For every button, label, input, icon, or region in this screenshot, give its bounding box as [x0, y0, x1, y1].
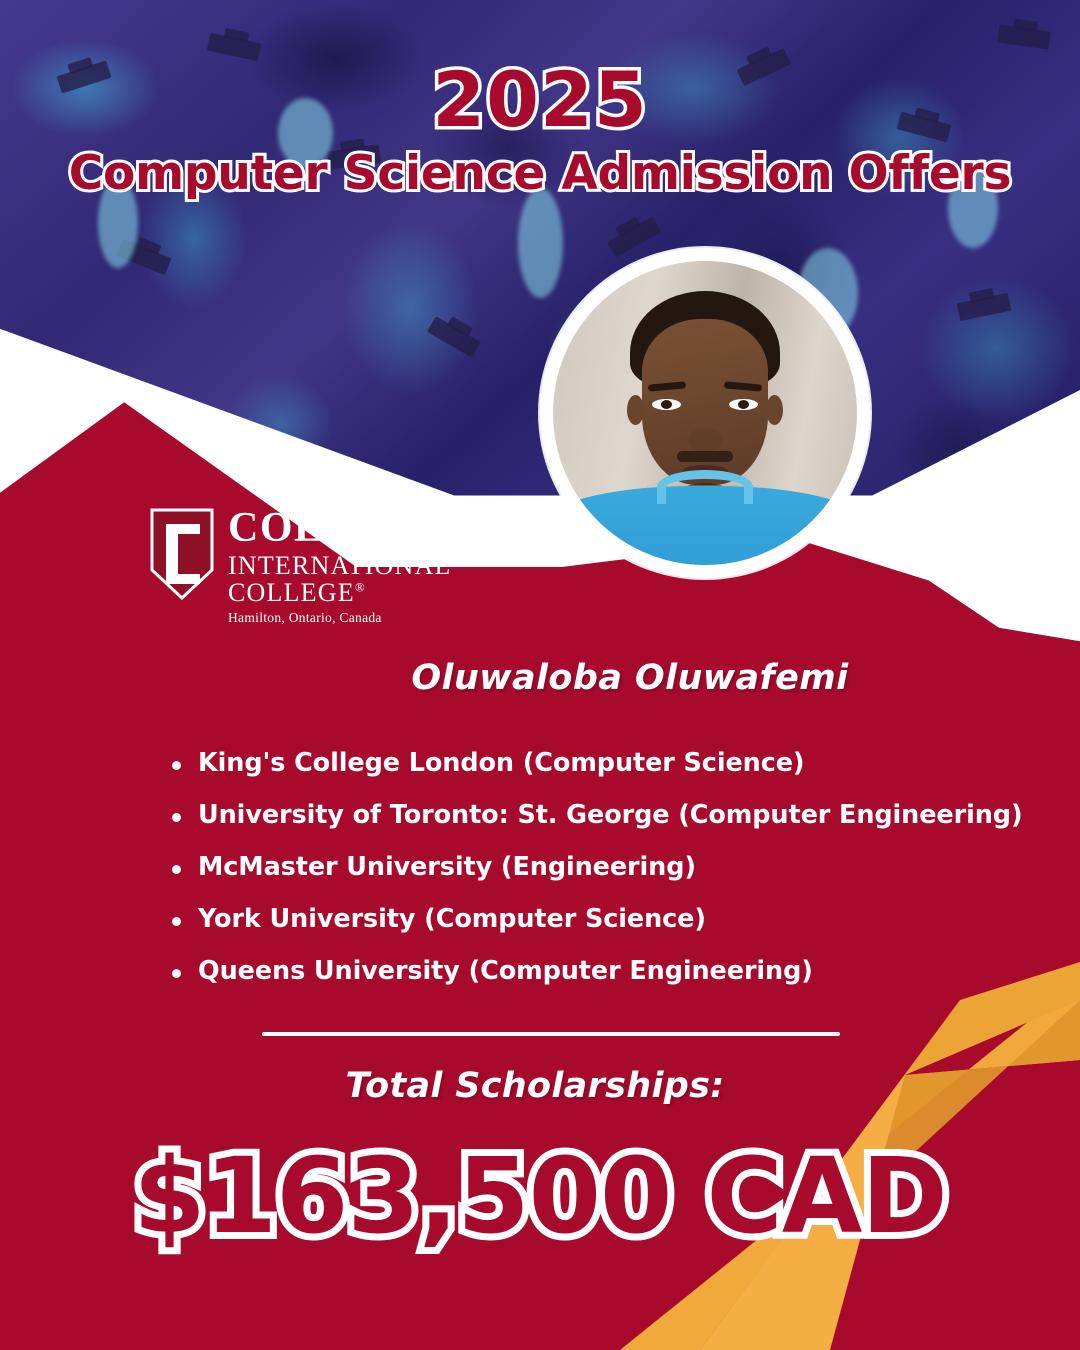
portrait-moustache	[677, 451, 733, 462]
portrait-nose	[688, 428, 722, 452]
logo-college-word: COLLEGE	[228, 578, 355, 607]
total-scholarships-amount: $163,500 CAD	[0, 1140, 1080, 1252]
logo-text-block: COLUMBIA INTERNATIONAL COLLEGE® Hamilton…	[228, 508, 476, 626]
admission-offers-list: King's College London (Computer Science)…	[168, 748, 1048, 1008]
student-name: Oluwaloba Oluwafemi	[0, 658, 1080, 698]
page-title: Computer Science Admission Offers	[0, 148, 1080, 200]
list-item: Queens University (Computer Engineering)	[168, 956, 1048, 986]
list-item: University of Toronto: St. George (Compu…	[168, 800, 1048, 830]
list-item: King's College London (Computer Science)	[168, 748, 1048, 778]
poster-canvas: 2025 Computer Science Admission Offers	[0, 0, 1080, 1350]
portrait-ear	[766, 395, 783, 425]
total-scholarships-label: Total Scholarships:	[0, 1066, 1080, 1106]
portrait-ear	[627, 395, 644, 425]
headline-block: 2025 Computer Science Admission Offers	[0, 60, 1080, 199]
logo-line-columbia: COLUMBIA	[228, 509, 476, 549]
portrait-collar	[657, 470, 753, 504]
registered-mark-icon: ®	[355, 580, 366, 595]
list-item: McMaster University (Engineering)	[168, 852, 1048, 882]
student-portrait	[540, 248, 870, 578]
logo-line-college: COLLEGE®	[228, 579, 476, 606]
college-logo: COLUMBIA INTERNATIONAL COLLEGE® Hamilton…	[150, 508, 476, 626]
headline-year: 2025	[0, 60, 1080, 140]
logo-line-international: INTERNATIONAL	[228, 552, 476, 579]
section-divider	[262, 1032, 840, 1036]
avatar	[553, 261, 857, 565]
list-item: York University (Computer Science)	[168, 904, 1048, 934]
logo-location: Hamilton, Ontario, Canada	[228, 610, 476, 626]
columbia-shield-icon	[150, 508, 214, 600]
